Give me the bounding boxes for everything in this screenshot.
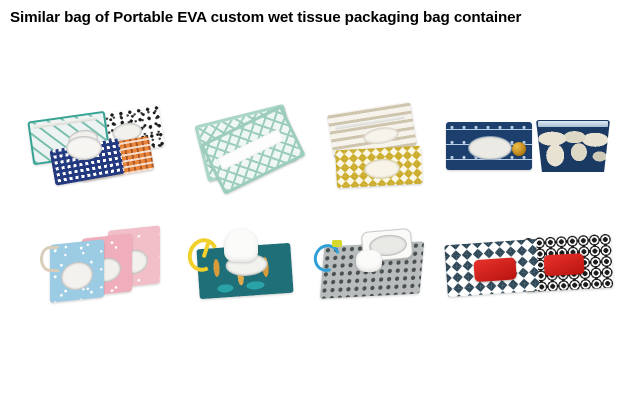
pastel-snowflake-pouch-trio-image bbox=[34, 216, 174, 312]
gallery-item-5[interactable] bbox=[34, 216, 174, 312]
clear-window bbox=[217, 129, 284, 170]
tissue-sheet bbox=[224, 228, 258, 262]
gray-dot-pouch-with-blue-strap-image bbox=[304, 216, 440, 312]
pouch-navy-anchor bbox=[446, 122, 532, 170]
gallery-item-6[interactable] bbox=[180, 216, 314, 312]
dispenser-oval-front bbox=[66, 136, 102, 160]
dispenser-oval bbox=[362, 125, 400, 146]
pouch-gold-chevron bbox=[335, 146, 423, 188]
strap-clip bbox=[332, 240, 342, 247]
tan-stripe-and-gold-chevron-pouch-pair-image bbox=[318, 96, 440, 198]
red-flip-lid[interactable] bbox=[544, 253, 585, 276]
dispenser-oval bbox=[468, 136, 512, 160]
pouch-world-map bbox=[536, 120, 610, 172]
gallery-item-7[interactable] bbox=[304, 216, 440, 312]
product-image-page: Similar bag of Portable EVA custom wet t… bbox=[0, 0, 638, 401]
gold-medallion-badge bbox=[512, 142, 526, 156]
assorted-pattern-pouch-cluster-image bbox=[22, 96, 174, 198]
navy-anchor-and-world-map-pouch-pair-image bbox=[440, 96, 616, 198]
gallery-item-2[interactable] bbox=[182, 96, 312, 198]
product-image-gallery bbox=[0, 88, 638, 318]
zipper-strip bbox=[33, 116, 97, 129]
teal-feather-pouch-with-yellow-strap-image bbox=[180, 216, 314, 312]
pouch-mint-front bbox=[200, 105, 305, 195]
dispenser-oval bbox=[61, 260, 93, 291]
gallery-item-8[interactable] bbox=[440, 216, 620, 312]
pouch-bw-chevron bbox=[444, 239, 539, 297]
red-flip-lid[interactable] bbox=[473, 257, 516, 282]
carry-strap bbox=[40, 246, 60, 272]
black-white-pouch-pair-red-lid-image bbox=[440, 216, 620, 312]
gallery-item-3[interactable] bbox=[318, 96, 440, 198]
page-title: Similar bag of Portable EVA custom wet t… bbox=[10, 9, 630, 27]
gallery-item-1[interactable] bbox=[22, 96, 174, 198]
tissue-sheet bbox=[356, 250, 382, 272]
gallery-item-4[interactable] bbox=[440, 96, 616, 198]
zipper-strip bbox=[538, 121, 608, 127]
dispenser-oval bbox=[364, 158, 401, 180]
mint-diamond-pouch-pair-image bbox=[182, 96, 312, 198]
